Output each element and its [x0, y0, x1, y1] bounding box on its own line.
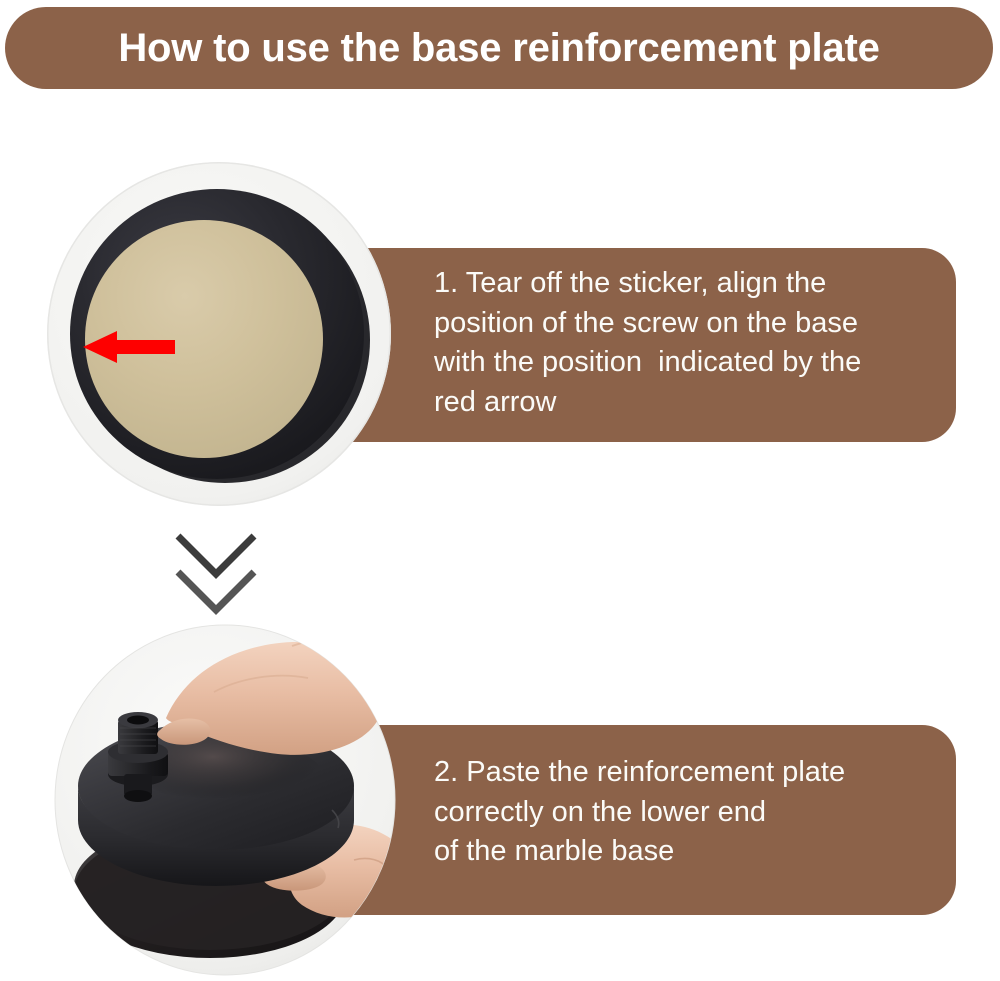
- page-title: How to use the base reinforcement plate: [118, 28, 879, 68]
- step-1-line-4: red arrow: [434, 383, 932, 423]
- step-1-line-2: position of the screw on the base: [434, 304, 932, 344]
- red-arrow-shape: [83, 331, 175, 363]
- red-arrow-icon: [83, 329, 175, 365]
- step-1-line-3: with the position indicated by the: [434, 343, 932, 383]
- chevron-down-icon-top: [178, 536, 254, 574]
- hands-base-scene-svg: [54, 624, 396, 976]
- infographic-page: How to use the base reinforcement plate …: [0, 0, 1000, 981]
- double-chevron-down-icon: [168, 528, 264, 618]
- screw-post-stem-bottom: [124, 790, 152, 802]
- screw-post-bore: [127, 716, 149, 725]
- step-2-line-2: correctly on the lower end: [434, 793, 932, 833]
- reinforcement-plate-photo: [47, 162, 391, 506]
- step-2-line-1: 2. Paste the reinforcement plate: [434, 753, 932, 793]
- step-2-line-3: of the marble base: [434, 832, 932, 872]
- step-1-line-1: 1. Tear off the sticker, align the: [434, 264, 932, 304]
- header-banner: How to use the base reinforcement plate: [5, 7, 993, 89]
- hands-placing-base-photo: [54, 624, 396, 976]
